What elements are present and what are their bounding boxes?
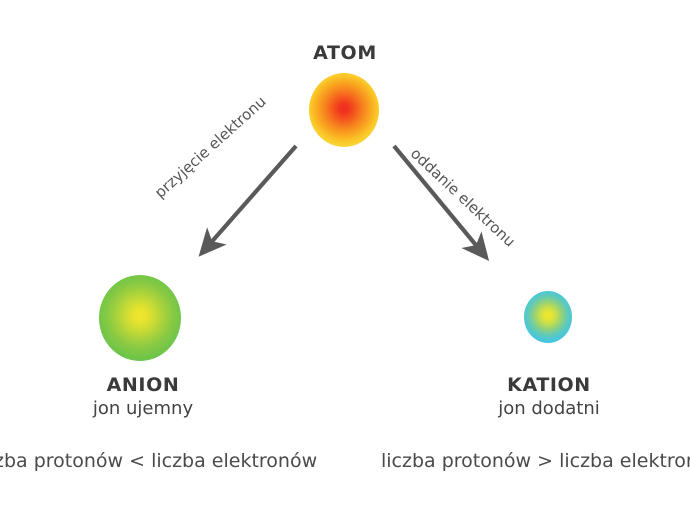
anion-formula: liczba protonów < liczba elektronów [0, 450, 317, 472]
cation-formula: liczba protonów > liczba elektronów [381, 450, 690, 472]
arrow-atom-to-anion [208, 146, 296, 246]
cation-title: KATION [418, 374, 680, 396]
diagram-canvas: ATOM przyjęcie elektronu oddanie elektro… [0, 0, 690, 518]
arrow-layer [0, 0, 690, 518]
anion-subtitle: jon ujemny [12, 398, 274, 419]
cation-sphere [524, 291, 572, 343]
anion-sphere [99, 275, 181, 361]
anion-title: ANION [12, 374, 274, 396]
cation-subtitle: jon dodatni [418, 398, 680, 419]
